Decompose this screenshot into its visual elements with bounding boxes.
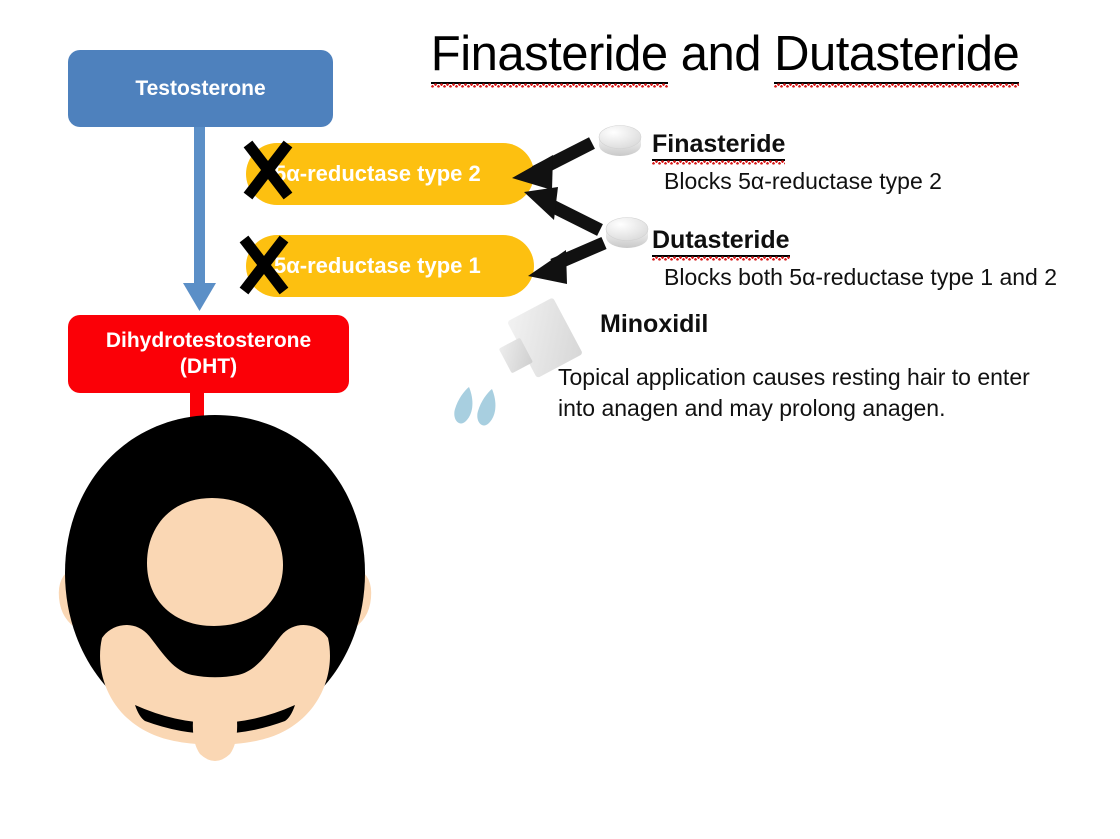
liquid-droplets-icon xyxy=(452,385,506,431)
dht-label-line2: (DHT) xyxy=(180,354,237,380)
testosterone-label: Testosterone xyxy=(135,77,265,101)
spellcheck-squiggle-icon xyxy=(652,256,790,261)
testosterone-to-dht-arrow xyxy=(183,125,216,311)
finasteride-heading-text: Finasteride xyxy=(652,130,785,158)
dutasteride-heading-text-wrap: Dutasteride xyxy=(652,226,790,257)
minoxidil-heading: Minoxidil xyxy=(600,310,708,339)
finasteride-heading: Finasteride xyxy=(652,130,785,161)
dutasteride-inhibits-type1-arrow xyxy=(528,243,604,284)
title-word-dutasteride: Dutasteride xyxy=(774,26,1019,84)
spellcheck-squiggle-icon xyxy=(774,83,1019,88)
dutasteride-inhibits-type2-arrow xyxy=(524,187,600,230)
page-title: Finasteride and Dutasteride xyxy=(400,26,1050,84)
dutasteride-description: Blocks both 5α-reductase type 1 and 2 xyxy=(664,264,1057,291)
dutasteride-heading-text: Dutasteride xyxy=(652,226,790,254)
spellcheck-squiggle-icon xyxy=(652,160,785,165)
title-part2: Dutasteride xyxy=(774,27,1019,81)
x-block-icon xyxy=(238,234,292,296)
dutasteride-heading: Dutasteride xyxy=(652,226,790,257)
finasteride-description: Blocks 5α-reductase type 2 xyxy=(664,168,942,195)
minoxidil-description: Topical application causes resting hair … xyxy=(558,362,1058,425)
enzyme-type-1-label: 5α-reductase type 1 xyxy=(274,253,481,279)
slide-canvas: Finasteride and Dutasteride Testosterone xyxy=(0,0,1120,839)
balding-scalp-top-view-icon xyxy=(40,405,390,775)
title-word-finasteride: Finasteride xyxy=(431,26,668,84)
enzyme-type-2-label: 5α-reductase type 2 xyxy=(274,161,481,187)
pill-tablet-icon xyxy=(604,215,650,249)
testosterone-box: Testosterone xyxy=(68,50,333,127)
spellcheck-squiggle-icon xyxy=(431,83,668,88)
dht-label-line1: Dihydrotestosterone xyxy=(106,328,311,354)
finasteride-heading-text-wrap: Finasteride xyxy=(652,130,785,161)
x-block-icon xyxy=(242,139,296,201)
title-part1: Finasteride xyxy=(431,27,668,81)
pill-tablet-icon xyxy=(597,123,643,157)
dht-box: Dihydrotestosterone (DHT) xyxy=(68,315,349,393)
title-conjunction: and xyxy=(668,27,774,81)
